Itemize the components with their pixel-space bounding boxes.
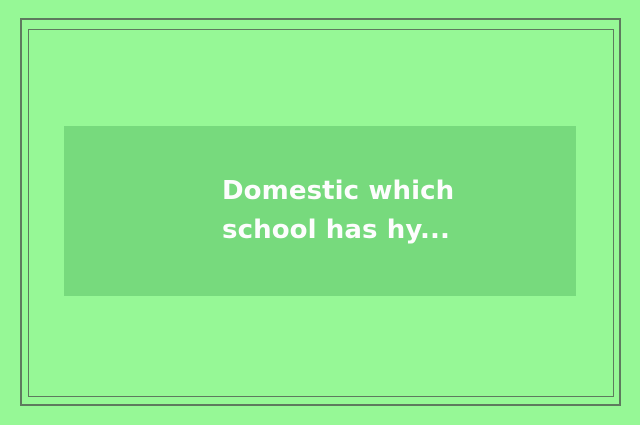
caption-line-1: Domestic which [222, 172, 454, 211]
slide-canvas: Domestic which school has hy... [0, 0, 640, 425]
caption-plate: Domestic which school has hy... [64, 126, 576, 296]
caption-line-2: school has hy... [222, 211, 450, 250]
